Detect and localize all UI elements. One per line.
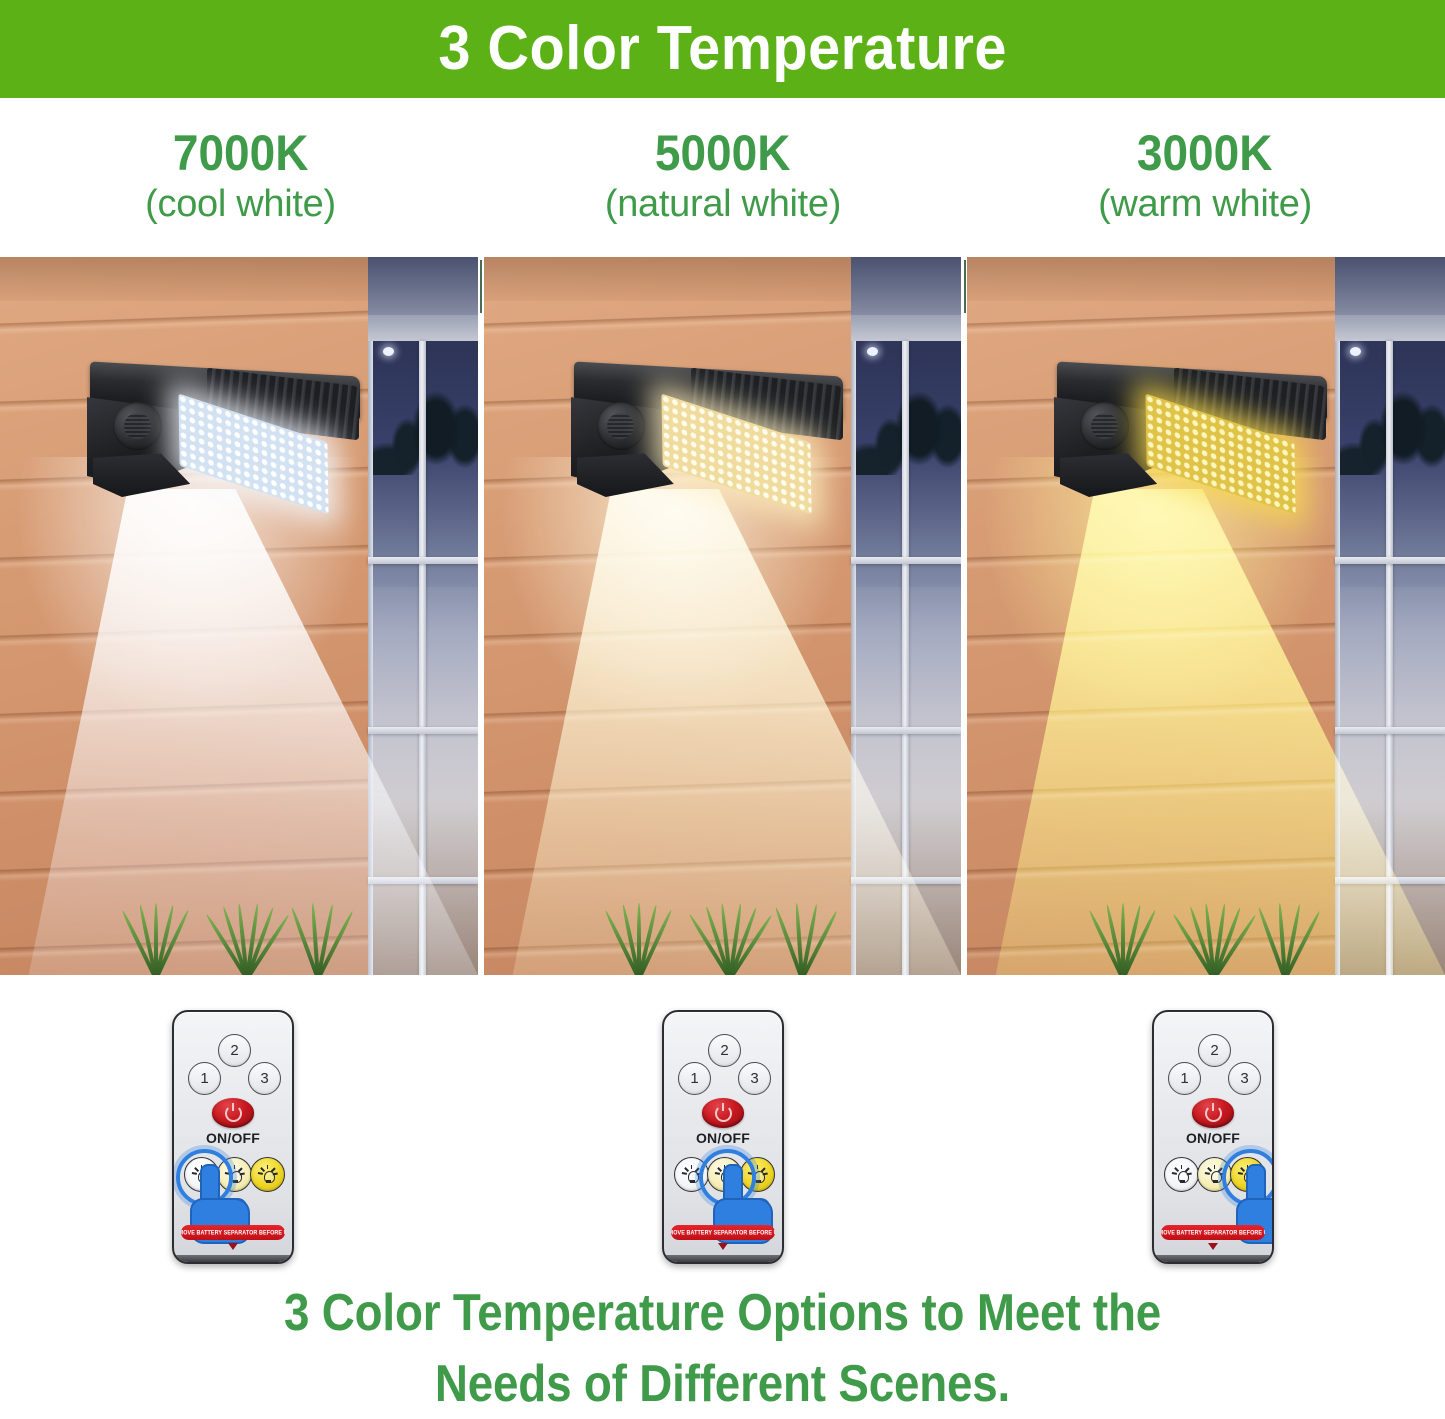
window-header-beam: [851, 257, 961, 315]
power-icon: [1205, 1105, 1222, 1122]
battery-notice-text: REMOVE BATTERY SEPARATOR BEFORE USE: [671, 1229, 775, 1237]
remote-bottom-edge: [1154, 1255, 1272, 1262]
window-mullion-horizontal-3: [1335, 877, 1445, 884]
power-icon: [715, 1105, 732, 1122]
remote-controls: 2 1 3 ON/OFF: [0, 1002, 1445, 1264]
photo-panel-5000k: [484, 257, 961, 975]
remote-control-5000k[interactable]: 2 1 3 ON/OFF: [662, 1010, 784, 1264]
battery-pull-tab-icon: [718, 1243, 728, 1250]
remote-bottom-edge: [174, 1255, 292, 1262]
remote-bottom-edge: [664, 1255, 782, 1262]
caption-line-2: Needs of Different Scenes.: [87, 1349, 1359, 1419]
remote-control-7000k[interactable]: 2 1 3 ON/OFF: [172, 1010, 294, 1264]
power-button[interactable]: [702, 1098, 744, 1128]
page-title: 3 Color Temperature: [438, 18, 1006, 80]
solar-led-wall-light: [81, 369, 368, 497]
label-column-5000k: 5000K (natural white): [481, 98, 965, 257]
kelvin-value-1: 7000K: [173, 128, 309, 179]
caption-line-1: 3 Color Temperature Options to Meet the: [87, 1278, 1359, 1349]
plant-decor: [598, 893, 676, 975]
kelvin-description-1: (cool white): [145, 183, 336, 227]
window-mullion-horizontal-1: [368, 557, 478, 564]
house-siding-wall: [484, 257, 856, 975]
window-transom: [851, 315, 961, 341]
house-window: [368, 257, 478, 975]
window-mullion-horizontal-2: [1335, 727, 1445, 734]
warm-white-button[interactable]: [250, 1157, 285, 1192]
window-mullion-horizontal-1: [851, 557, 961, 564]
power-button-label: ON/OFF: [664, 1130, 782, 1146]
remote-button-1[interactable]: 1: [678, 1062, 711, 1095]
remote-button-3[interactable]: 3: [738, 1062, 771, 1095]
remote-button-1[interactable]: 1: [188, 1062, 221, 1095]
window-transom: [368, 315, 478, 341]
cool-white-button[interactable]: [1164, 1157, 1199, 1192]
remote-control-3000k[interactable]: 2 1 3 ON/OFF: [1152, 1010, 1274, 1264]
power-icon: [225, 1105, 242, 1122]
window-transom: [1335, 315, 1445, 341]
label-column-7000k: 7000K (cool white): [0, 98, 481, 257]
motion-sensor-icon: [597, 402, 646, 449]
plant-decor: [1244, 909, 1322, 975]
window-mullion-horizontal-2: [851, 727, 961, 734]
solar-led-wall-light: [1048, 369, 1335, 497]
window-mullion-horizontal-3: [851, 877, 961, 884]
kelvin-value-2: 5000K: [655, 128, 791, 179]
window-mullion-horizontal-2: [368, 727, 478, 734]
kelvin-description-3: (warm white): [1098, 183, 1312, 227]
photo-panel-7000k: [0, 257, 478, 975]
label-column-3000k: 3000K (warm white): [965, 98, 1445, 257]
wall-soffit-shadow: [0, 257, 373, 301]
power-button-label: ON/OFF: [174, 1130, 292, 1146]
battery-notice-text: REMOVE BATTERY SEPARATOR BEFORE USE: [1161, 1229, 1265, 1237]
house-siding-wall: [967, 257, 1340, 975]
remote-button-3[interactable]: 3: [248, 1062, 281, 1095]
battery-notice-text: REMOVE BATTERY SEPARATOR BEFORE USE: [181, 1229, 285, 1237]
power-button[interactable]: [212, 1098, 254, 1128]
battery-notice-strip: REMOVE BATTERY SEPARATOR BEFORE USE: [671, 1225, 775, 1240]
house-window: [1335, 257, 1445, 975]
moon-icon: [867, 347, 878, 356]
solar-led-wall-light: [565, 369, 851, 497]
window-mullion-horizontal-3: [368, 877, 478, 884]
window-header-beam: [1335, 257, 1445, 315]
house-window: [851, 257, 961, 975]
kelvin-description-2: (natural white): [605, 183, 841, 227]
power-button-label: ON/OFF: [1154, 1130, 1272, 1146]
wall-soffit-shadow: [967, 257, 1340, 301]
footer-caption: 3 Color Temperature Options to Meet the …: [0, 1278, 1445, 1419]
plant-decor: [689, 887, 767, 975]
power-button[interactable]: [1192, 1098, 1234, 1128]
plant-decor: [277, 909, 355, 975]
motion-sensor-icon: [113, 402, 162, 449]
color-temperature-labels: 7000K (cool white) 5000K (natural white)…: [0, 98, 1445, 257]
motion-sensor-icon: [1080, 402, 1129, 449]
remote-button-2[interactable]: 2: [218, 1034, 251, 1067]
header-banner: 3 Color Temperature: [0, 0, 1445, 98]
remote-button-1[interactable]: 1: [1168, 1062, 1201, 1095]
product-photo-panels: [0, 257, 1445, 975]
window-mullion-horizontal-1: [1335, 557, 1445, 564]
wall-soffit-shadow: [484, 257, 856, 301]
plant-decor: [115, 893, 193, 975]
kelvin-value-3: 3000K: [1137, 128, 1273, 179]
battery-pull-tab-icon: [1208, 1243, 1218, 1250]
warm-white-bulb-icon: [258, 1165, 278, 1185]
plant-decor: [206, 887, 284, 975]
plant-decor: [761, 909, 839, 975]
house-siding-wall: [0, 257, 373, 975]
window-header-beam: [368, 257, 478, 315]
battery-notice-strip: REMOVE BATTERY SEPARATOR BEFORE USE: [181, 1225, 285, 1240]
photo-panel-3000k: [967, 257, 1445, 975]
remote-button-3[interactable]: 3: [1228, 1062, 1261, 1095]
plant-decor: [1082, 893, 1160, 975]
cool-white-bulb-icon: [1172, 1165, 1192, 1185]
remote-button-2[interactable]: 2: [1198, 1034, 1231, 1067]
battery-notice-strip: REMOVE BATTERY SEPARATOR BEFORE USE: [1161, 1225, 1265, 1240]
battery-pull-tab-icon: [228, 1243, 238, 1250]
plant-decor: [1173, 887, 1251, 975]
remote-button-2[interactable]: 2: [708, 1034, 741, 1067]
